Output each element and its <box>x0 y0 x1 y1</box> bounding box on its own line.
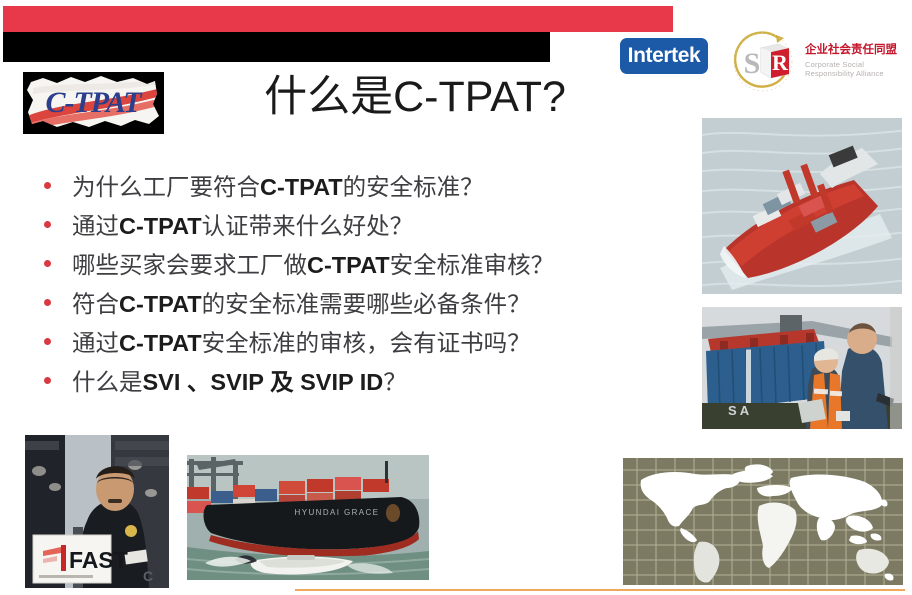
csr-english-line2: Responsibility Alliance <box>805 69 909 79</box>
list-item: 哪些买家会要求工厂做C-TPAT安全标准审核？ <box>44 254 684 293</box>
list-item-prefix: 通过 <box>72 214 119 240</box>
svg-text:C: C <box>143 568 153 584</box>
list-item: 通过C-TPAT安全标准的审核，会有证书吗？ <box>44 332 684 371</box>
csr-logo-text: 企业社会责任同盟 Corporate Social Responsibility… <box>805 44 909 79</box>
header-black-bar <box>3 32 550 62</box>
photo-fast-officer: FAST C <box>25 435 169 588</box>
list-item: 什么是SVI 、SVIP 及 SVIP ID？ <box>44 371 684 410</box>
list-item-emphasis: C-TPAT <box>260 174 343 200</box>
csr-english-line1: Corporate Social <box>805 60 909 70</box>
header-red-bar <box>3 6 673 32</box>
photo-hyundai-grace: HYUNDAI GRACE <box>187 455 429 580</box>
footer-rule <box>295 589 905 591</box>
list-item-suffix: 的安全标准需要哪些必备条件？ <box>202 292 531 318</box>
list-item: 为什么工厂要符合C-TPAT的安全标准？ <box>44 176 684 215</box>
slide-canvas: C-TPAT 什么是C-TPAT? Intertek S R <box>0 0 912 595</box>
csr-chinese-name: 企业社会责任同盟 <box>805 44 909 57</box>
list-item: 通过C-TPAT认证带来什么好处？ <box>44 215 684 254</box>
fast-sign-text: FAST <box>69 547 128 573</box>
photo-ship-aerial <box>702 118 902 294</box>
list-item-prefix: 什么是 <box>72 370 143 396</box>
list-item-emphasis: C-TPAT <box>119 291 202 317</box>
bullet-dot-icon <box>44 221 51 228</box>
intertek-logo: Intertek <box>620 38 708 74</box>
svg-text:S A: S A <box>728 403 750 418</box>
list-item: 符合C-TPAT的安全标准需要哪些必备条件？ <box>44 293 684 332</box>
list-item-label: 哪些买家会要求工厂做C-TPAT安全标准审核？ <box>72 254 554 279</box>
list-item-suffix: 的安全标准？ <box>343 175 484 201</box>
csr-emblem-icon: S R <box>727 28 799 96</box>
list-item-prefix: 符合 <box>72 292 119 318</box>
question-list: 为什么工厂要符合C-TPAT的安全标准？ 通过C-TPAT认证带来什么好处？ 哪… <box>44 176 684 410</box>
photo-world-map <box>623 458 903 585</box>
svg-text:C-TPAT: C-TPAT <box>45 86 143 119</box>
list-item-label: 符合C-TPAT的安全标准需要哪些必备条件？ <box>72 293 531 318</box>
list-item-emphasis: SVI 、SVIP 及 SVIP ID <box>143 369 384 395</box>
list-item-suffix: 安全标准的审核，会有证书吗？ <box>202 331 531 357</box>
list-item-label: 通过C-TPAT认证带来什么好处？ <box>72 215 413 240</box>
list-item-suffix: ？ <box>383 370 407 396</box>
list-item-prefix: 为什么工厂要符合 <box>72 175 260 201</box>
list-item-label: 通过C-TPAT安全标准的审核，会有证书吗？ <box>72 332 531 357</box>
svg-text:R: R <box>772 50 789 75</box>
csr-english-name: Corporate Social Responsibility Alliance <box>805 60 909 80</box>
svg-text:S: S <box>744 47 761 80</box>
bullet-dot-icon <box>44 182 51 189</box>
list-item-prefix: 哪些买家会要求工厂做 <box>72 253 307 279</box>
list-item-prefix: 通过 <box>72 331 119 357</box>
list-item-emphasis: C-TPAT <box>119 330 202 356</box>
photo-container-inspection: S A <box>702 307 902 429</box>
bullet-dot-icon <box>44 299 51 306</box>
list-item-suffix: 安全标准审核？ <box>390 253 555 279</box>
list-item-label: 什么是SVI 、SVIP 及 SVIP ID？ <box>72 371 407 396</box>
bullet-dot-icon <box>44 338 51 345</box>
list-item-label: 为什么工厂要符合C-TPAT的安全标准？ <box>72 176 484 201</box>
ctpat-logo: C-TPAT <box>23 72 164 134</box>
bullet-dot-icon <box>44 377 51 384</box>
list-item-suffix: 认证带来什么好处？ <box>202 214 414 240</box>
intertek-wordmark: Intertek <box>628 44 701 68</box>
ship-name-text: HYUNDAI GRACE <box>295 508 380 517</box>
list-item-emphasis: C-TPAT <box>119 213 202 239</box>
page-title: 什么是C-TPAT? <box>200 73 630 122</box>
bullet-dot-icon <box>44 260 51 267</box>
list-item-emphasis: C-TPAT <box>307 252 390 278</box>
